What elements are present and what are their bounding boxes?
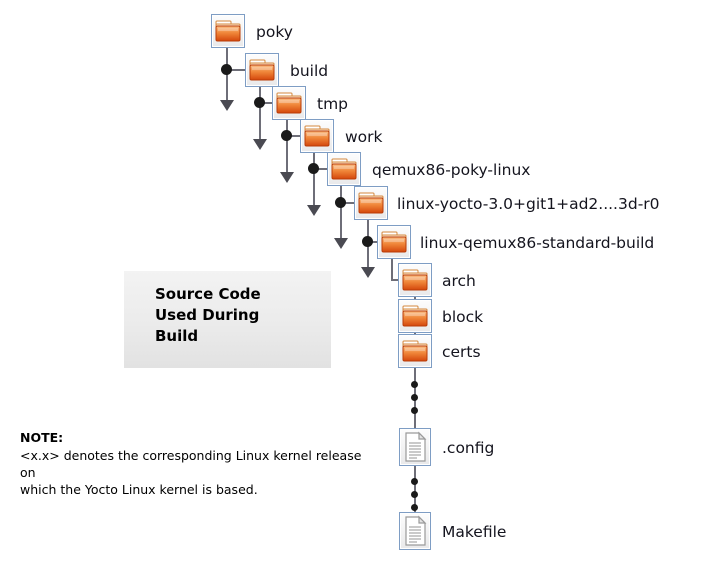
node-label-arch: arch: [442, 274, 476, 290]
connector-build-vertical: [259, 87, 261, 145]
node-label-config-file: .config: [442, 441, 494, 457]
arrowhead-work: [307, 205, 321, 216]
arrowhead-qemux86: [334, 238, 348, 249]
connector-tmp-vertical: [286, 120, 288, 178]
folder-icon[interactable]: [377, 225, 411, 259]
node-label-linux-qemux86-standard-build: linux-qemux86-standard-build: [420, 236, 654, 252]
node-label-work: work: [345, 130, 383, 146]
connector-qemux86-vertical: [340, 186, 342, 244]
node-label-block: block: [442, 310, 483, 326]
branch-dot-linuxyocto: [362, 236, 373, 247]
folder-icon[interactable]: [211, 14, 245, 48]
branch-dot-work: [308, 163, 319, 174]
folder-icon[interactable]: [398, 299, 432, 333]
node-label-poky: poky: [256, 25, 293, 41]
node-label-makefile: Makefile: [442, 525, 506, 541]
branch-dot-tmp: [281, 130, 292, 141]
node-label-tmp: tmp: [317, 97, 348, 113]
branch-dot-build: [254, 97, 265, 108]
folder-icon[interactable]: [354, 186, 388, 220]
source-code-callout-text: Source Code Used During Build: [155, 284, 261, 347]
connector-work-vertical: [313, 153, 315, 211]
arrowhead-tmp: [280, 172, 294, 183]
node-label-linux-yocto: linux-yocto-3.0+git1+ad2....3d-r0: [397, 197, 660, 213]
ellipsis-dot: [411, 394, 418, 401]
note-body: <x.x> denotes the corresponding Linux ke…: [20, 447, 380, 498]
node-label-build: build: [290, 64, 328, 80]
ellipsis-dot: [411, 491, 418, 498]
connector-linuxyocto-vertical: [367, 220, 369, 274]
folder-icon[interactable]: [300, 119, 334, 153]
folder-icon[interactable]: [245, 53, 279, 87]
arrowhead-build: [253, 139, 267, 150]
file-icon[interactable]: [399, 512, 431, 550]
branch-dot-qemux86: [335, 197, 346, 208]
connector-stdbuild-vertical: [391, 259, 393, 280]
ellipsis-dot: [411, 504, 418, 511]
ellipsis-dot: [411, 381, 418, 388]
note-block: NOTE: <x.x> denotes the corresponding Li…: [20, 430, 380, 498]
folder-icon[interactable]: [272, 86, 306, 120]
folder-icon[interactable]: [327, 152, 361, 186]
ellipsis-dot: [411, 407, 418, 414]
folder-icon[interactable]: [398, 263, 432, 297]
node-label-certs: certs: [442, 345, 481, 361]
arrowhead-poky: [220, 100, 234, 111]
folder-icon[interactable]: [398, 334, 432, 368]
note-title: NOTE:: [20, 430, 380, 446]
diagram-canvas: poky build tmp: [0, 0, 705, 581]
arrowhead-linuxyocto: [361, 267, 375, 278]
branch-dot-poky: [221, 64, 232, 75]
node-label-qemux86-poky-linux: qemux86-poky-linux: [372, 163, 530, 179]
connector-poky-vertical: [226, 48, 228, 106]
ellipsis-dot: [411, 478, 418, 485]
source-code-callout-box: Source Code Used During Build: [124, 271, 331, 368]
file-icon[interactable]: [399, 428, 431, 466]
